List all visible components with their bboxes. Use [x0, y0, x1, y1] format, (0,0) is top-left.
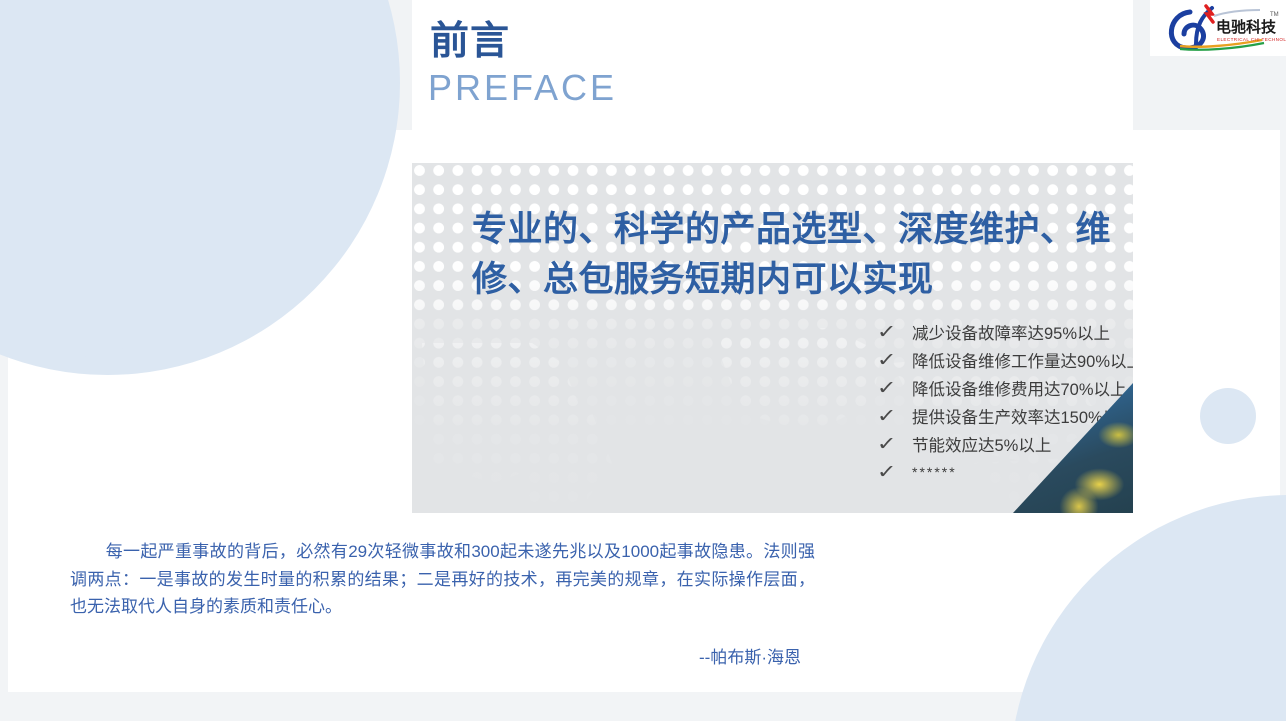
page-title: 前言 — [430, 22, 510, 61]
panel-heading: 专业的、科学的产品选型、深度维护、维修、总包服务短期内可以实现 — [472, 205, 1133, 304]
content-panel: 专业的、科学的产品选型、深度维护、维修、总包服务短期内可以实现 ✓ 减少设备故障… — [412, 163, 1133, 513]
logo-icon: 电驰科技 ELECTRICAL CHI TECHNOLOGY TM — [1150, 0, 1286, 56]
list-item: ✓ 降低设备维修工作量达90%以上 — [880, 346, 1133, 374]
list-item: ✓ 降低设备维修费用达70%以上 — [880, 374, 1133, 402]
check-icon: ✓ — [877, 379, 910, 398]
svg-text:TM: TM — [1270, 12, 1279, 18]
decorative-circle-left-small — [58, 280, 136, 358]
check-icon: ✓ — [877, 463, 910, 482]
header-block: 前言 PREFACE — [412, 0, 1133, 143]
decorative-circle-right-small — [1200, 388, 1256, 444]
check-icon: ✓ — [877, 351, 910, 370]
quote-block: 每一起严重事故的背后，必然有29次轻微事故和300起未遂先兆以及1000起事故隐… — [70, 520, 823, 677]
svg-text:ELECTRICAL CHI TECHNOLOGY: ELECTRICAL CHI TECHNOLOGY — [1217, 37, 1286, 42]
svg-text:电驰科技: 电驰科技 — [1216, 18, 1277, 36]
check-icon: ✓ — [877, 323, 910, 342]
quote-text: 每一起严重事故的背后，必然有29次轻微事故和300起未遂先兆以及1000起事故隐… — [70, 538, 815, 621]
list-item-label: 减少设备故障率达95%以上 — [906, 320, 1110, 344]
page-subtitle: PREFACE — [428, 70, 617, 106]
company-logo: 电驰科技 ELECTRICAL CHI TECHNOLOGY TM — [1150, 0, 1286, 56]
slide-canvas: 前言 PREFACE 电驰科技 ELECTRICAL CHI TECHNOLOG… — [0, 0, 1286, 721]
list-item-label: 节能效应达5%以上 — [906, 432, 1051, 456]
check-icon: ✓ — [877, 407, 910, 426]
quote-author: --帕布斯·海恩 — [699, 643, 801, 668]
list-item: ✓ 减少设备故障率达95%以上 — [880, 318, 1133, 346]
list-item-label: 降低设备维修工作量达90%以上 — [906, 348, 1133, 372]
list-item-label: 降低设备维修费用达70%以上 — [906, 376, 1127, 400]
list-item-label: ****** — [906, 464, 957, 480]
check-icon: ✓ — [877, 435, 910, 454]
